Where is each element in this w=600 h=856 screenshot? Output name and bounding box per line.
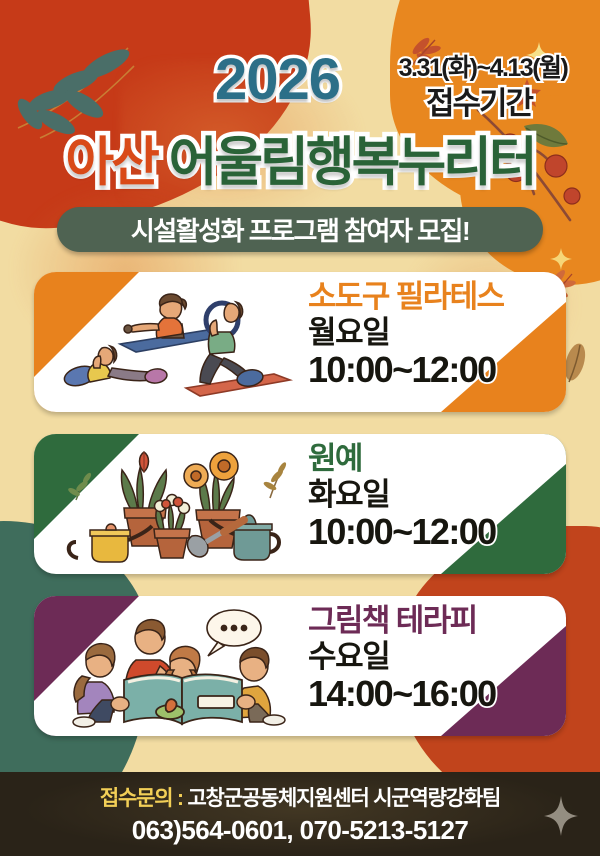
title-city: 아산 <box>65 133 157 192</box>
program-time: 10:00~12:00 <box>308 512 556 552</box>
footer-contact-label: 접수문의 : <box>100 787 183 810</box>
card-inner: 소도구 필라테스 월요일 10:00~12:00 <box>34 272 566 412</box>
program-day: 월요일 <box>308 315 556 351</box>
poster-root: 2026 3.31(화)~4.13(월) 접수기간 아산 어울림행복누리터 시설… <box>0 0 600 856</box>
program-title: 그림책 테라피 <box>308 604 556 639</box>
footer-contact-line: 접수문의 : 고창군공동체지원센터 시군역량강화팀 <box>100 782 500 812</box>
program-card-gardening[interactable]: 원예 화요일 10:00~12:00 <box>34 434 566 574</box>
card-text-block: 그림책 테라피 수요일 14:00~16:00 <box>308 604 556 730</box>
subtitle-text: 시설활성화 프로그램 참여자 모집! <box>131 211 469 248</box>
program-time: 14:00~16:00 <box>308 674 556 714</box>
program-title: 원예 <box>308 442 556 477</box>
program-day: 화요일 <box>308 477 556 513</box>
subtitle-banner: 시설활성화 프로그램 참여자 모집! <box>57 207 543 252</box>
year-heading: 2026 <box>215 46 340 113</box>
sparkle-icon-footer <box>544 796 578 841</box>
program-title: 소도구 필라테스 <box>308 280 556 315</box>
card-text-block: 원예 화요일 10:00~12:00 <box>308 442 556 568</box>
card-inner: 그림책 테라피 수요일 14:00~16:00 <box>34 596 566 736</box>
period-label: 접수기간 <box>394 78 564 123</box>
footer-contact-bar: 접수문의 : 고창군공동체지원센터 시군역량강화팀 063)564-0601, … <box>0 772 600 856</box>
gardening-icon <box>58 442 298 566</box>
footer-contact-org: 고창군공동체지원센터 시군역량강화팀 <box>187 787 500 810</box>
program-card-picturebook-therapy[interactable]: 그림책 테라피 수요일 14:00~16:00 <box>34 596 566 736</box>
footer-phone[interactable]: 063)564-0601, 070-5213-5127 <box>132 815 469 846</box>
program-day: 수요일 <box>308 639 556 675</box>
program-time: 10:00~12:00 <box>308 350 556 390</box>
card-inner: 원예 화요일 10:00~12:00 <box>34 434 566 574</box>
program-card-pilates[interactable]: 소도구 필라테스 월요일 10:00~12:00 <box>34 272 566 412</box>
card-text-block: 소도구 필라테스 월요일 10:00~12:00 <box>308 280 556 406</box>
picturebook-therapy-icon <box>58 604 298 728</box>
page-title: 아산 어울림행복누리터 <box>0 120 600 196</box>
pilates-icon <box>58 280 298 404</box>
title-name: 어울림행복누리터 <box>169 133 535 192</box>
